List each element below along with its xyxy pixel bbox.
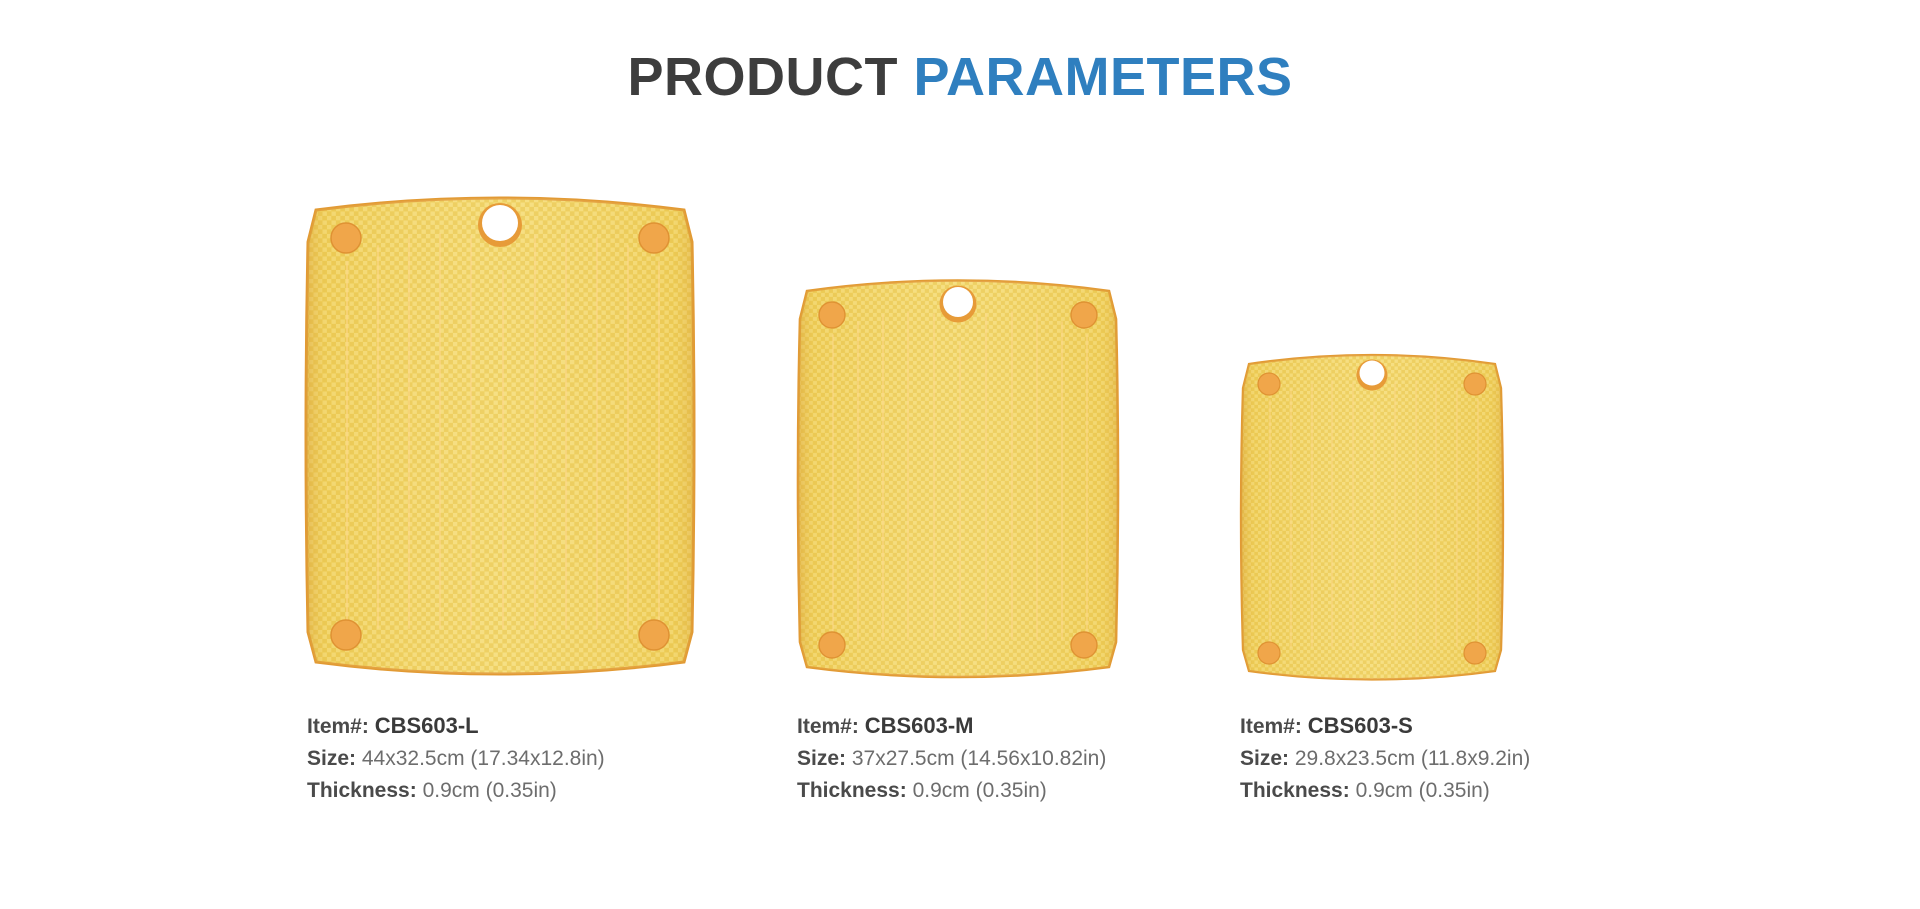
spec-thickness-label: Thickness: — [1240, 779, 1350, 802]
board-illustration-large — [300, 180, 700, 690]
board-hanging-hole-large — [478, 203, 522, 247]
spec-thickness-medium: Thickness: 0.9cm (0.35in) — [797, 775, 1106, 807]
product-list: Item#: CBS603-L Size: 44x32.5cm (17.34x1… — [0, 180, 1920, 880]
spec-thickness-label: Thickness: — [307, 779, 417, 802]
spec-item-number-medium: Item#: CBS603-M — [797, 710, 1106, 743]
board-slot-large — [300, 180, 700, 690]
product-parameters-page: PRODUCT PARAMETERS — [0, 0, 1920, 909]
spec-size-label: Size: — [307, 747, 356, 770]
spec-thickness-value: 0.9cm (0.35in) — [913, 779, 1047, 802]
page-title-accent: PARAMETERS — [913, 47, 1292, 107]
board-hanging-hole-small — [1357, 360, 1388, 391]
spec-size-medium: Size: 37x27.5cm (14.56x10.82in) — [797, 743, 1106, 775]
product-item-small: Item#: CBS603-S Size: 29.8x23.5cm (11.8x… — [1237, 180, 1637, 880]
spec-size-small: Size: 29.8x23.5cm (11.8x9.2in) — [1240, 743, 1530, 775]
spec-thickness-label: Thickness: — [797, 779, 907, 802]
spec-item-label: Item#: — [1240, 715, 1302, 738]
spec-item-value: CBS603-M — [865, 713, 974, 738]
spec-thickness-value: 0.9cm (0.35in) — [1356, 779, 1490, 802]
board-slot-medium — [793, 180, 1123, 690]
spec-size-label: Size: — [797, 747, 846, 770]
product-specs-small: Item#: CBS603-S Size: 29.8x23.5cm (11.8x… — [1240, 710, 1530, 807]
spec-thickness-value: 0.9cm (0.35in) — [423, 779, 557, 802]
product-item-large: Item#: CBS603-L Size: 44x32.5cm (17.34x1… — [300, 180, 720, 880]
spec-item-number-large: Item#: CBS603-L — [307, 710, 605, 743]
spec-size-label: Size: — [1240, 747, 1289, 770]
spec-size-value: 37x27.5cm (14.56x10.82in) — [852, 747, 1107, 770]
spec-size-value: 29.8x23.5cm (11.8x9.2in) — [1295, 747, 1530, 770]
page-title: PRODUCT PARAMETERS — [0, 48, 1920, 107]
board-hanging-hole-medium — [940, 286, 977, 323]
cutting-board-large — [300, 180, 700, 690]
page-title-primary: PRODUCT — [627, 47, 898, 107]
page-title-space — [898, 47, 914, 107]
page-title-container: PRODUCT PARAMETERS — [0, 48, 1920, 107]
product-item-medium: Item#: CBS603-M Size: 37x27.5cm (14.56x1… — [793, 180, 1213, 880]
spec-size-large: Size: 44x32.5cm (17.34x12.8in) — [307, 743, 605, 775]
spec-item-number-small: Item#: CBS603-S — [1240, 710, 1530, 743]
cutting-board-small — [1237, 342, 1507, 690]
spec-thickness-large: Thickness: 0.9cm (0.35in) — [307, 775, 605, 807]
spec-item-value: CBS603-S — [1308, 713, 1413, 738]
board-slot-small — [1237, 180, 1507, 690]
product-specs-medium: Item#: CBS603-M Size: 37x27.5cm (14.56x1… — [797, 710, 1106, 807]
cutting-board-medium — [793, 265, 1123, 690]
board-illustration-small — [1237, 342, 1507, 690]
product-specs-large: Item#: CBS603-L Size: 44x32.5cm (17.34x1… — [307, 710, 605, 807]
spec-item-label: Item#: — [307, 715, 369, 738]
spec-size-value: 44x32.5cm (17.34x12.8in) — [362, 747, 605, 770]
board-illustration-medium — [793, 265, 1123, 690]
spec-item-label: Item#: — [797, 715, 859, 738]
spec-item-value: CBS603-L — [375, 713, 479, 738]
spec-thickness-small: Thickness: 0.9cm (0.35in) — [1240, 775, 1530, 807]
